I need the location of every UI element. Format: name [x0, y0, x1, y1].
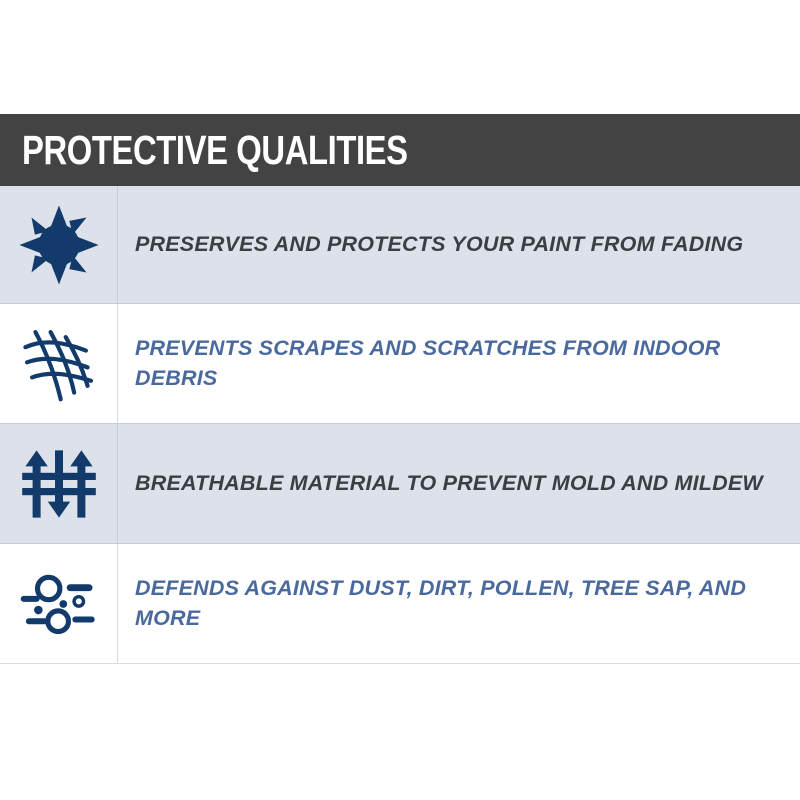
list-item-label: DEFENDS AGAINST DUST, DIRT, POLLEN, TREE… [135, 574, 766, 632]
panel-header: PROTECTIVE QUALITIES [0, 114, 800, 186]
feature-text-cell: BREATHABLE MATERIAL TO PREVENT MOLD AND … [118, 424, 800, 543]
feature-icon-cell [0, 304, 118, 423]
list-item-label: PREVENTS SCRAPES AND SCRATCHES FROM INDO… [135, 334, 766, 392]
sun-icon [16, 202, 102, 288]
mesh-net-icon [17, 322, 101, 406]
feature-list: PRESERVES AND PROTECTS YOUR PAINT FROM F… [0, 186, 800, 664]
dust-particles-icon [16, 561, 102, 647]
list-item-label: BREATHABLE MATERIAL TO PREVENT MOLD AND … [135, 469, 763, 498]
list-item: DEFENDS AGAINST DUST, DIRT, POLLEN, TREE… [0, 544, 800, 664]
feature-text-cell: PRESERVES AND PROTECTS YOUR PAINT FROM F… [118, 186, 800, 303]
list-item: PRESERVES AND PROTECTS YOUR PAINT FROM F… [0, 186, 800, 304]
protective-qualities-panel: PROTECTIVE QUALITIES [0, 0, 800, 800]
breathable-airflow-icon [19, 444, 99, 524]
feature-text-cell: DEFENDS AGAINST DUST, DIRT, POLLEN, TREE… [118, 544, 800, 663]
feature-icon-cell [0, 424, 118, 543]
list-item-label: PRESERVES AND PROTECTS YOUR PAINT FROM F… [135, 230, 743, 259]
feature-text-cell: PREVENTS SCRAPES AND SCRATCHES FROM INDO… [118, 304, 800, 423]
list-item: PREVENTS SCRAPES AND SCRATCHES FROM INDO… [0, 304, 800, 424]
page-title: PROTECTIVE QUALITIES [22, 130, 408, 171]
list-item: BREATHABLE MATERIAL TO PREVENT MOLD AND … [0, 424, 800, 544]
feature-icon-cell [0, 186, 118, 303]
feature-icon-cell [0, 544, 118, 663]
